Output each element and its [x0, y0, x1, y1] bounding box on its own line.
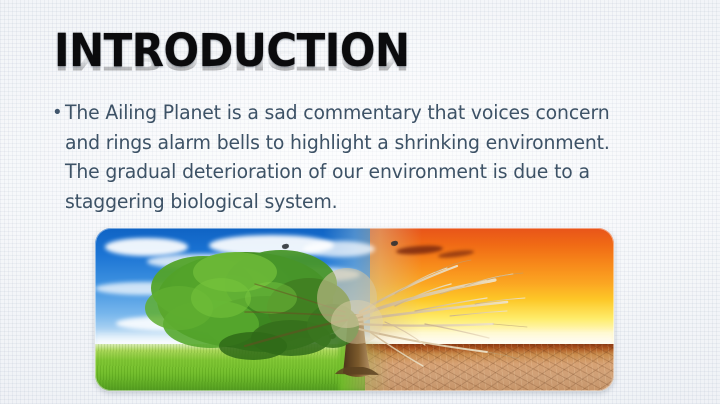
split-tree-graphic [95, 228, 614, 391]
page-title-reflection: INTRODUCTION [54, 45, 410, 74]
split-landscape-photo [95, 228, 614, 391]
bullet-list-item: • The Ailing Planet is a sad commentary … [52, 98, 662, 216]
bullet-text: The Ailing Planet is a sad commentary th… [65, 98, 641, 216]
bullet-marker-icon: • [54, 98, 61, 128]
presentation-slide: INTRODUCTION INTRODUCTION • The Ailing P… [0, 0, 720, 404]
slide-body: • The Ailing Planet is a sad commentary … [52, 98, 662, 216]
photo-canvas [95, 228, 614, 391]
